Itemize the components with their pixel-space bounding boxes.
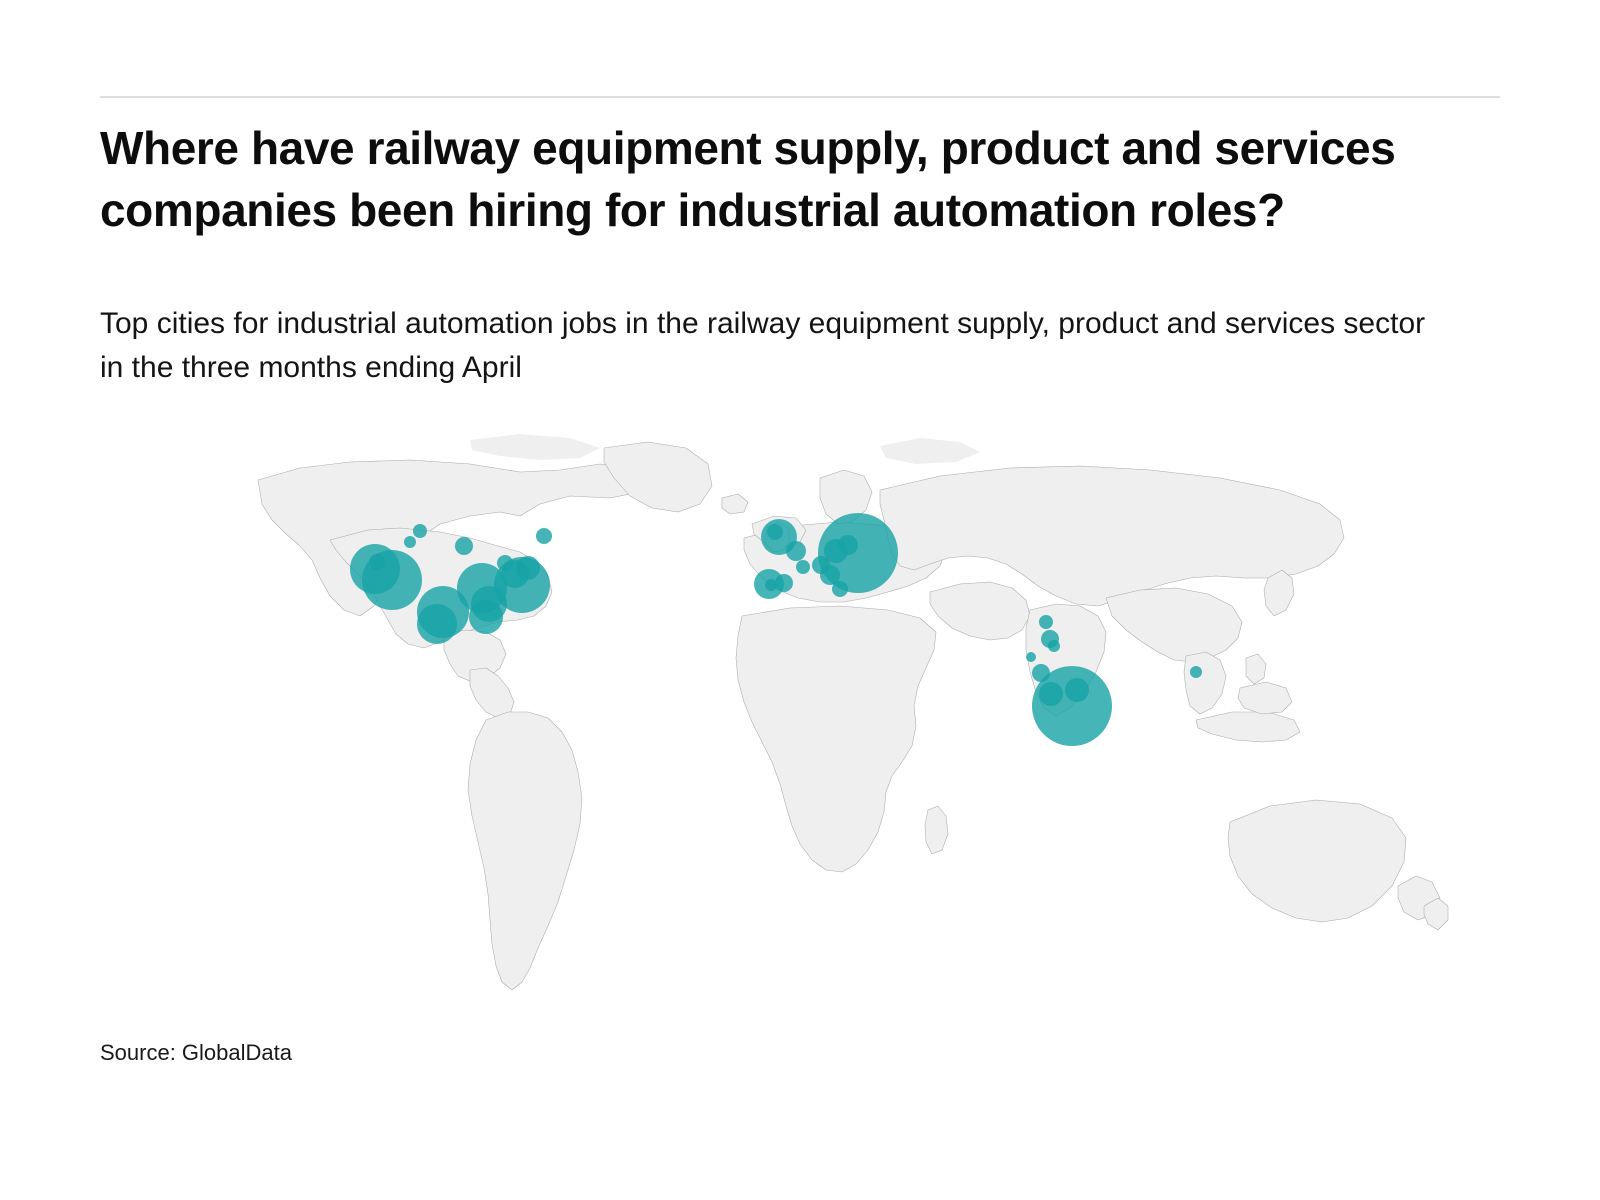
map-bubble [536,528,552,544]
map-bubble [1190,666,1202,678]
map-bubble [413,524,427,538]
chart-page: Where have railway equipment supply, pro… [0,0,1600,1200]
map-bubble [832,581,848,597]
page-subtitle: Top cities for industrial automation job… [100,302,1450,389]
source-label: Source: GlobalData [100,1040,292,1066]
map-bubble [1039,682,1063,706]
map-bubble [516,556,540,580]
map-bubble [838,535,858,555]
map-bubble [1032,664,1050,682]
map-bubble [1026,652,1036,662]
map-bubble [767,524,783,540]
map-bubble [404,536,416,548]
map-bubble [786,541,806,561]
page-title: Where have railway equipment supply, pro… [100,118,1490,241]
bubble-map-chart [0,420,1600,1020]
map-bubble [469,600,503,634]
map-bubble [417,604,457,644]
map-bubble [775,574,793,592]
map-bubble [765,579,777,591]
top-divider [100,96,1500,98]
map-bubble [812,556,830,574]
map-bubble [796,560,810,574]
map-bubble [497,555,513,571]
map-bubble [369,554,385,570]
map-bubble [1039,615,1053,629]
map-bubble [1048,640,1060,652]
map-bubble [1065,678,1089,702]
map-bubble [455,537,473,555]
